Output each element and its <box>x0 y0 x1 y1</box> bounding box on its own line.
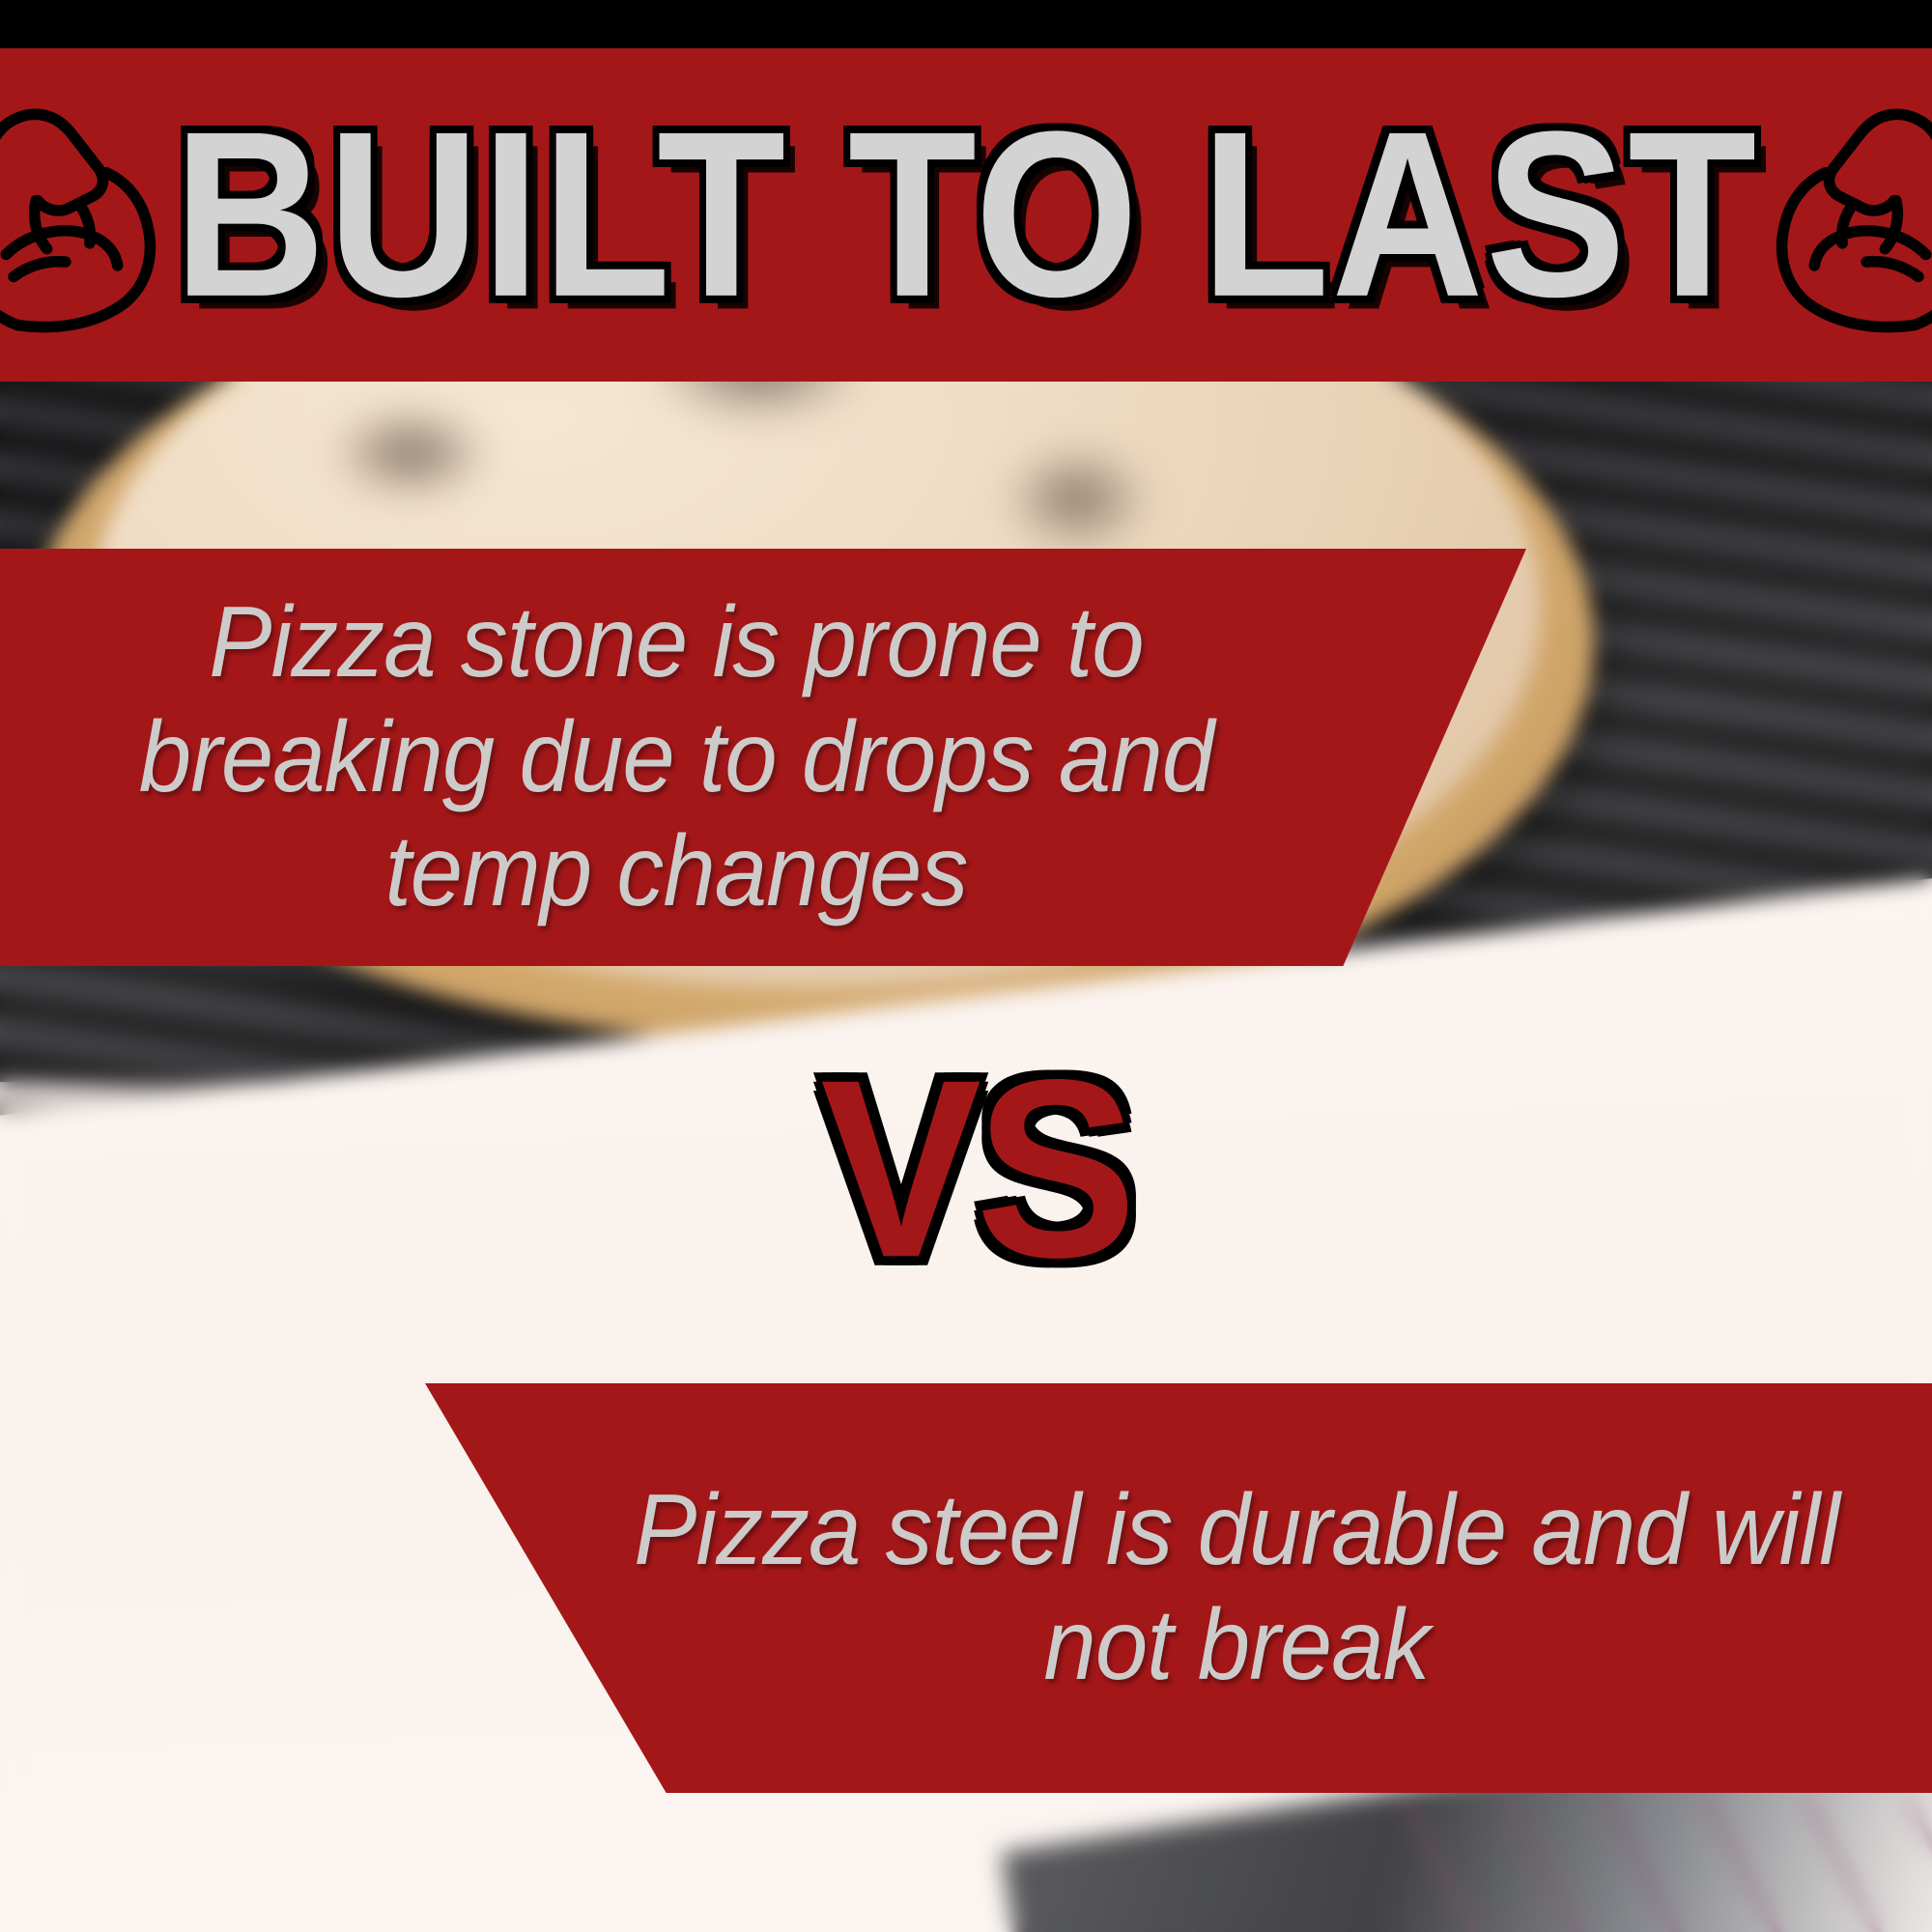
page-title: BUILT TO LAST <box>174 97 1759 332</box>
header-banner: BUILT TO LAST <box>0 48 1932 382</box>
comparison-banner-stone: Pizza stone is prone to breaking due to … <box>0 549 1526 966</box>
poster-canvas: BUILT TO LAST Pizza stone is prone to br… <box>0 0 1932 1932</box>
flexed-biceps-icon <box>0 95 164 336</box>
comparison-banner-steel: Pizza steel is durable and will not brea… <box>425 1383 1932 1793</box>
stone-claim-text: Pizza stone is prone to breaking due to … <box>68 585 1285 929</box>
top-black-bar <box>0 0 1932 48</box>
flexed-biceps-icon <box>1768 95 1932 336</box>
steel-claim-text: Pizza steel is durable and will not brea… <box>610 1473 1862 1702</box>
